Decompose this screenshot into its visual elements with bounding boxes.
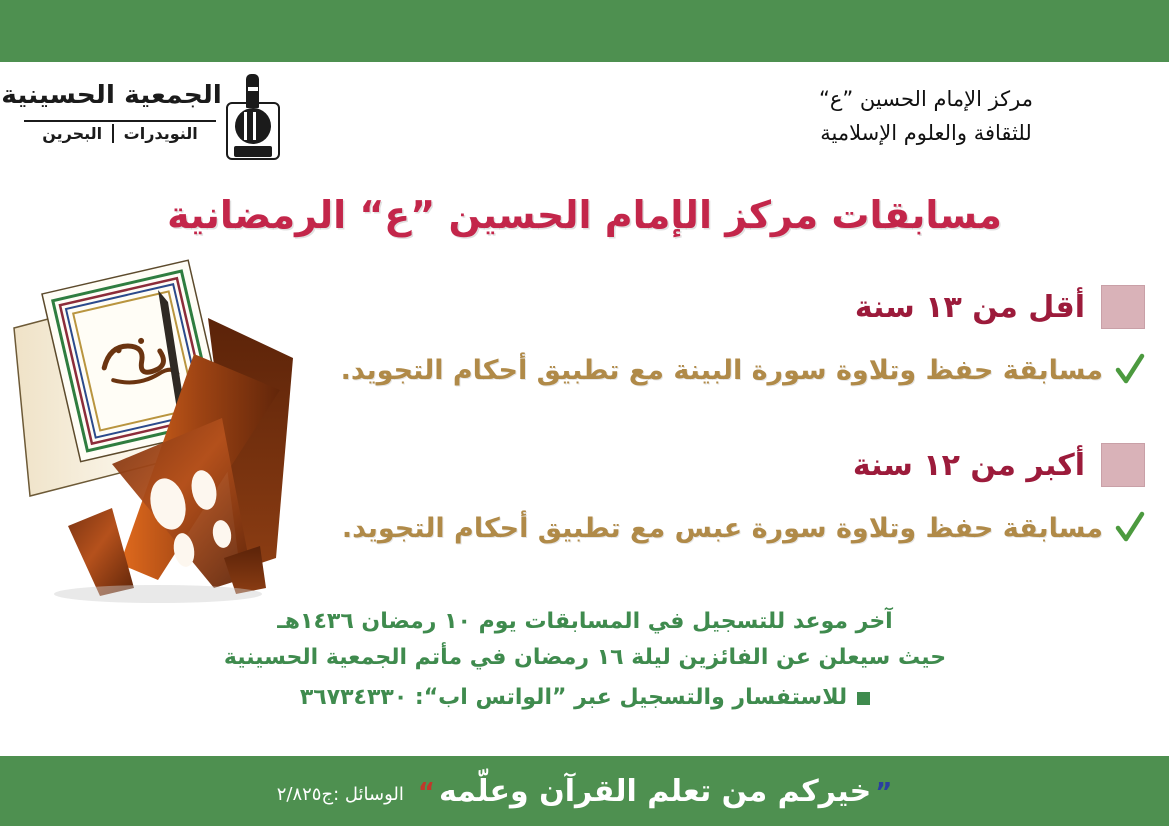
check-mark-icon: [1115, 511, 1145, 545]
logo-location-country: البحرين: [42, 124, 102, 143]
pink-square-bullet-icon: [1101, 285, 1145, 329]
organization-name-line2: للثقافة والعلوم الإسلامية: [711, 116, 1141, 150]
contact-note[interactable]: للاستفسار والتسجيل عبر ”الواتس اب“: ٣٦٧٣…: [300, 680, 847, 716]
category-row-over-12: أكبر من ١٢ سنة: [15, 436, 1145, 494]
page-title: مسابقات مركز الإمام الحسين ”ع“ الرمضانية: [0, 193, 1169, 237]
husseini-society-emblem-icon: [224, 74, 282, 166]
logo-location-row: النويدرات البحرين: [24, 124, 216, 143]
organization-name-line1: مركز الإمام الحسين ”ع“: [711, 82, 1141, 116]
hadith-text: خيركم من تعلم القرآن وعلّمه: [439, 774, 871, 809]
winners-note: حيث سيعلن عن الفائزين ليلة ١٦ رمضان في م…: [25, 640, 1145, 676]
green-square-bullet-icon: [857, 692, 870, 705]
pink-square-bullet-icon: [1101, 443, 1145, 487]
check-mark-icon: [1115, 353, 1145, 387]
description-row-under-13: مسابقة حفظ وتلاوة سورة البينة مع تطبيق أ…: [15, 342, 1145, 398]
category-label-over-12: أكبر من ١٢ سنة: [853, 448, 1085, 483]
description-row-over-12: مسابقة حفظ وتلاوة سورة عبس مع تطبيق أحكا…: [15, 500, 1145, 556]
competition-list: أقل من ١٣ سنة مسابقة حفظ وتلاوة سورة الب…: [15, 278, 1145, 556]
deadline-note: آخر موعد للتسجيل في المسابقات يوم ١٠ رمض…: [25, 604, 1145, 640]
contact-note-row: للاستفسار والتسجيل عبر ”الواتس اب“: ٣٦٧٣…: [25, 680, 1145, 716]
quote-open-mark: ”: [875, 778, 892, 808]
logo-vertical-divider: [112, 124, 114, 143]
category-label-under-13: أقل من ١٣ سنة: [855, 290, 1085, 325]
category-row-under-13: أقل من ١٣ سنة: [15, 278, 1145, 336]
registration-notes: آخر موعد للتسجيل في المسابقات يوم ١٠ رمض…: [25, 604, 1145, 716]
footer-hadith-bar: ” خيركم من تعلم القرآن وعلّمه “ الوسائل …: [0, 756, 1169, 826]
society-logo: الجمعية الحسينية النويدرات البحرين: [14, 74, 282, 170]
logo-divider-rule: [24, 120, 216, 122]
emblem-disc: [235, 108, 271, 144]
quote-close-mark: “: [418, 778, 435, 808]
emblem-plinth: [234, 146, 272, 157]
hadith-text-group: ” خيركم من تعلم القرآن وعلّمه “: [418, 774, 892, 809]
logo-location-village: النويدرات: [124, 124, 198, 143]
list-spacer: [15, 398, 1145, 436]
logo-calligraphy-name: الجمعية الحسينية: [14, 80, 222, 109]
top-green-band: [0, 0, 1169, 62]
organization-name: مركز الإمام الحسين ”ع“ للثقافة والعلوم ا…: [711, 82, 1141, 150]
description-label-under-13: مسابقة حفظ وتلاوة سورة البينة مع تطبيق أ…: [341, 355, 1103, 386]
description-label-over-12: مسابقة حفظ وتلاوة سورة عبس مع تطبيق أحكا…: [342, 513, 1103, 544]
hadith-citation: الوسائل :ج٢/٨٢٥: [277, 784, 404, 805]
header: الجمعية الحسينية النويدرات البحرين مركز …: [0, 62, 1169, 180]
